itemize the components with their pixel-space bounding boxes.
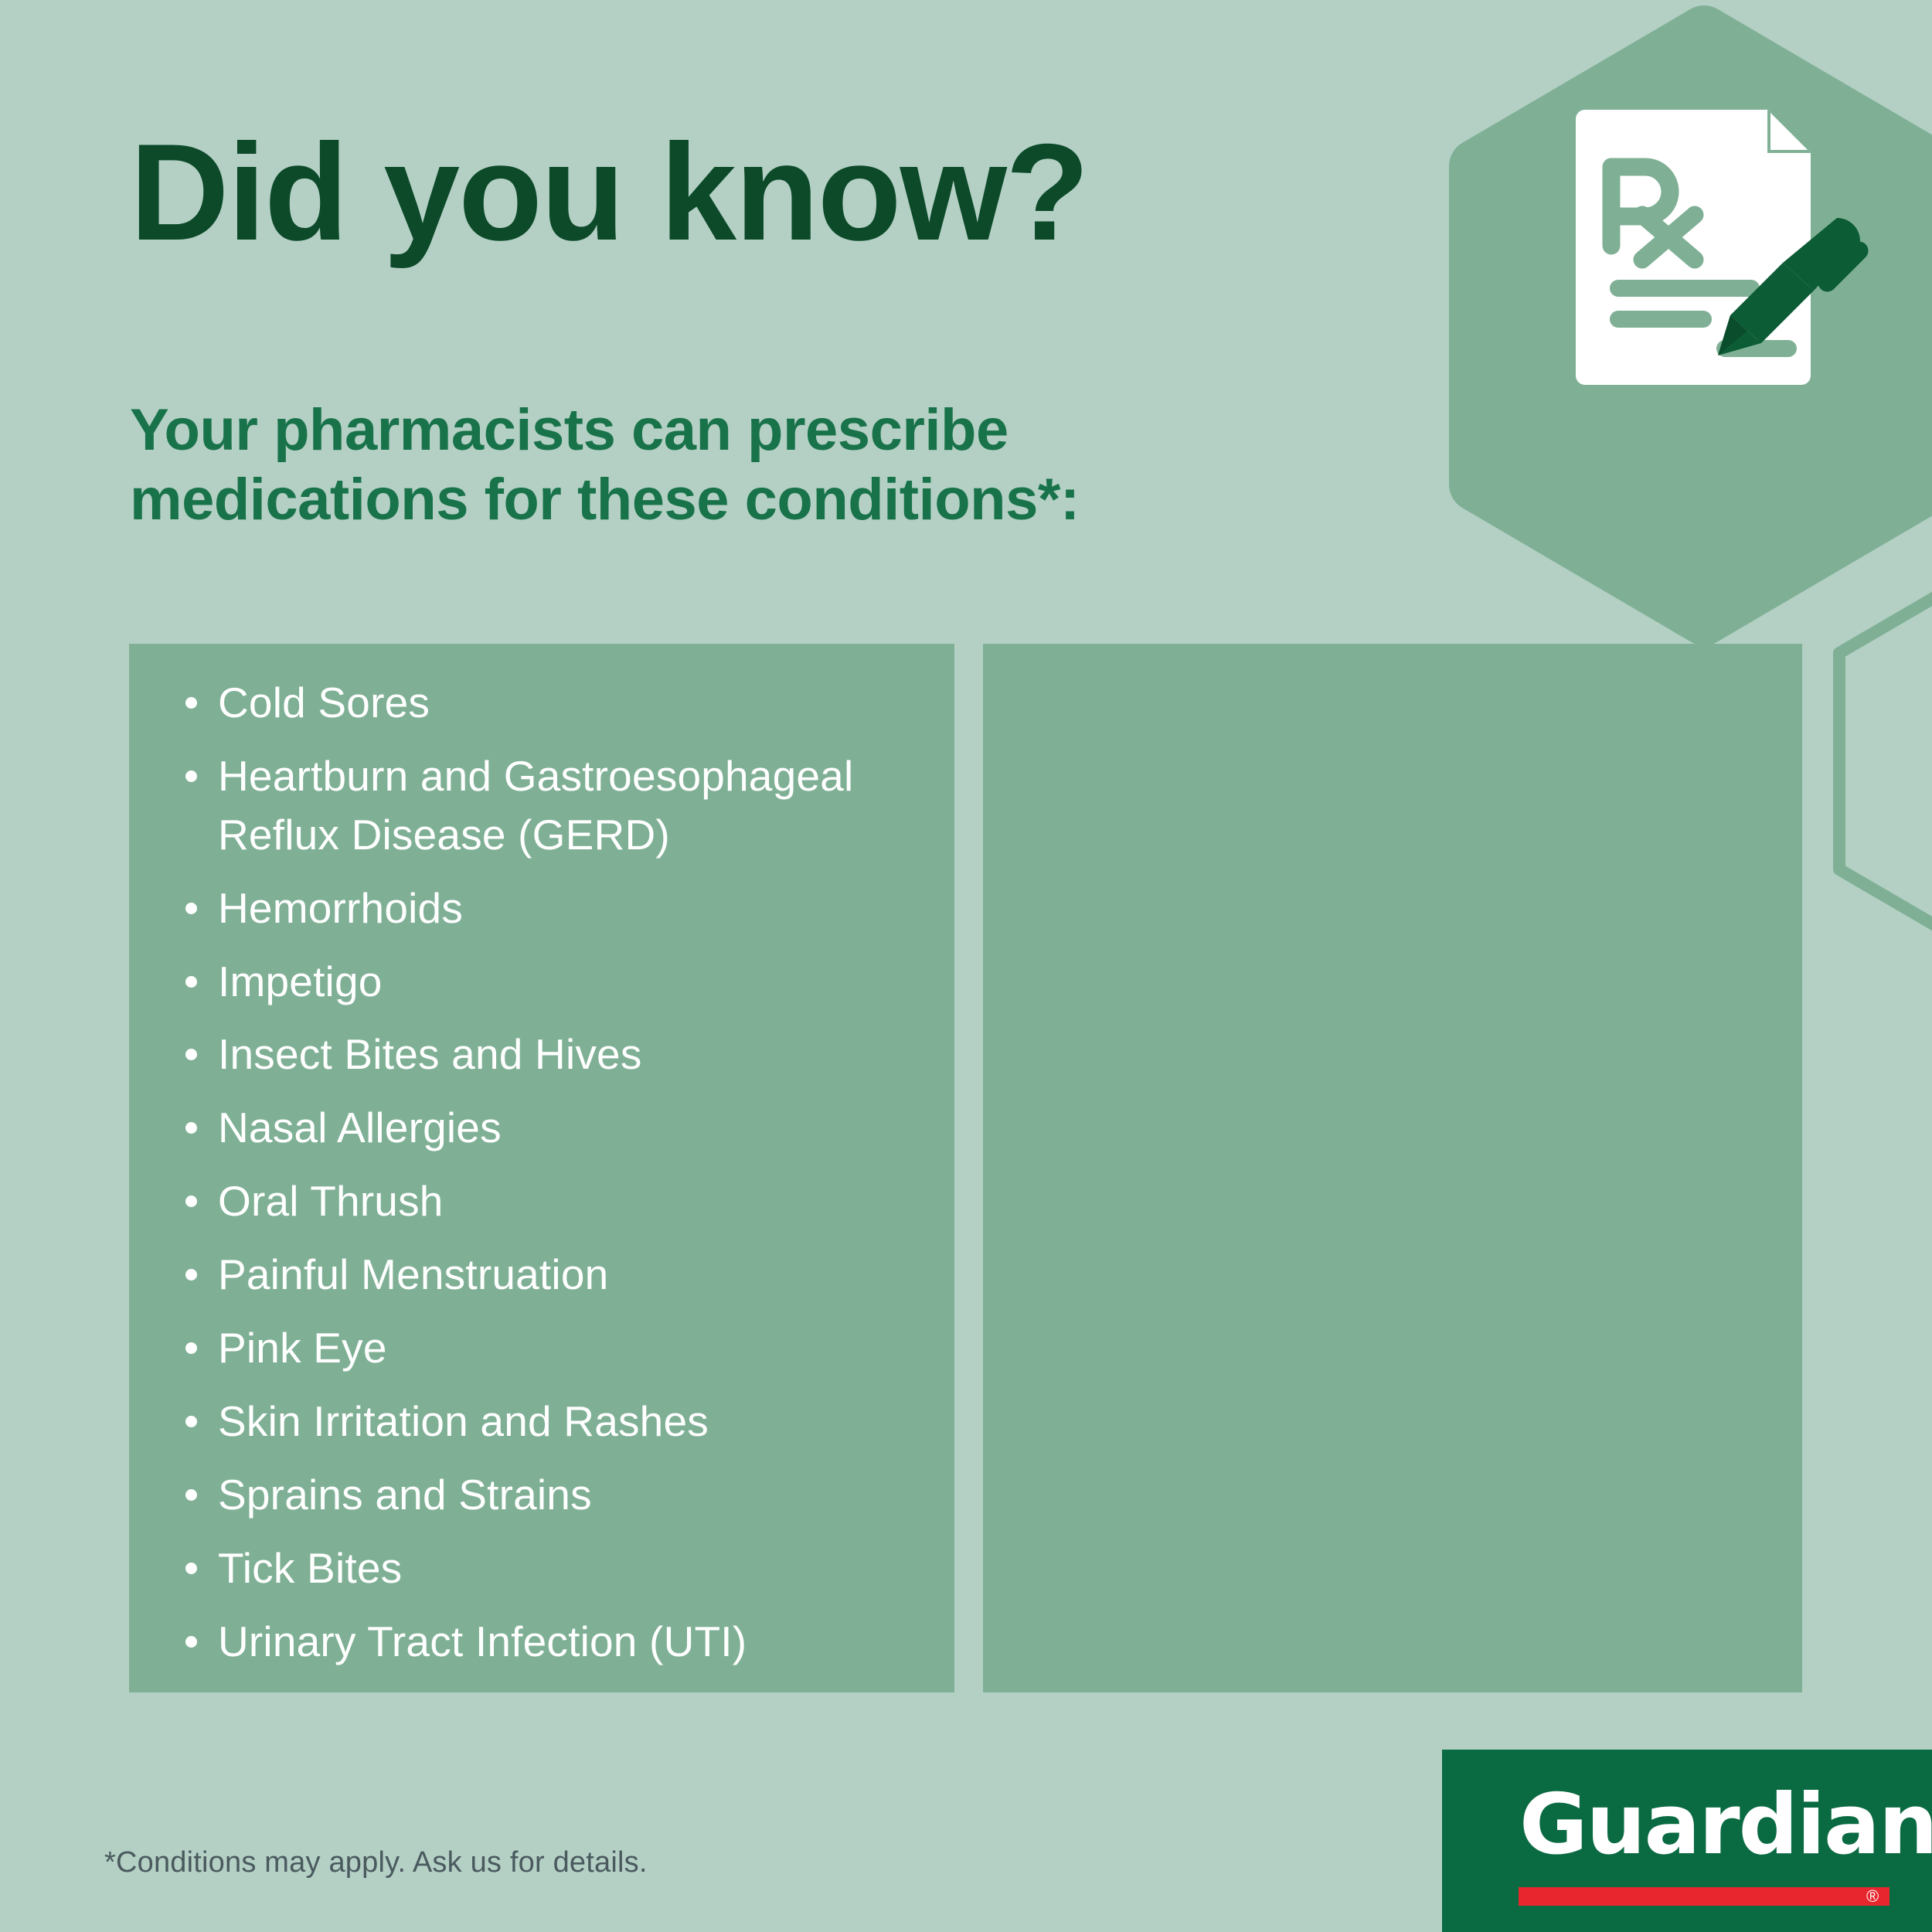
document-line-2 xyxy=(1610,311,1712,328)
bullet-icon xyxy=(185,1636,197,1648)
list-item-label: Tick Bites xyxy=(218,1544,402,1592)
list-item: Impetigo xyxy=(179,953,944,1012)
bullet-icon xyxy=(185,976,197,988)
bullet-icon xyxy=(185,1196,197,1207)
list-item: Hemorrhoids xyxy=(179,879,944,938)
list-item-label: Urinary Tract Infection (UTI) xyxy=(218,1617,747,1665)
list-item: Pink Eye xyxy=(179,1319,944,1378)
document-fold-white xyxy=(1770,113,1808,150)
list-item-label: Insect Bites and Hives xyxy=(218,1030,642,1078)
bullet-icon xyxy=(185,1342,197,1354)
bullet-icon xyxy=(185,1416,197,1427)
page-subtitle: Your pharmacists can prescribe medicatio… xyxy=(130,396,1289,534)
list-item: Insect Bites and Hives xyxy=(179,1026,944,1084)
hexagon-outline-shape xyxy=(1839,545,1932,978)
list-item-label: Oral Thrush xyxy=(218,1177,444,1225)
list-item-label: Skin Irritation and Rashes xyxy=(218,1397,709,1445)
registered-trademark-icon: ® xyxy=(1866,1889,1879,1904)
list-item: Heartburn and Gastroesophageal Reflux Di… xyxy=(179,747,944,865)
prescription-rx-icon xyxy=(1565,108,1874,417)
list-item-label: Pink Eye xyxy=(218,1324,387,1372)
list-item: Oral Thrush xyxy=(179,1172,944,1231)
bullet-icon xyxy=(185,1269,197,1281)
conditions-panel-right xyxy=(983,644,1802,1692)
list-item: Sprains and Strains xyxy=(179,1466,944,1525)
guardian-wordmark: Guardian xyxy=(1519,1784,1932,1867)
list-item: Cold Sores xyxy=(179,674,944,733)
list-item-label: Nasal Allergies xyxy=(218,1104,502,1151)
list-item-label: Heartburn and Gastroesophageal Reflux Di… xyxy=(218,752,853,859)
conditions-list: Cold Sores Heartburn and Gastroesophagea… xyxy=(179,674,944,1685)
bullet-icon xyxy=(185,1049,197,1060)
list-item: Skin Irritation and Rashes xyxy=(179,1393,944,1451)
list-item-label: Sprains and Strains xyxy=(218,1471,592,1519)
guardian-red-rule xyxy=(1519,1887,1889,1906)
list-item: Painful Menstruation xyxy=(179,1246,944,1304)
list-item-label: Impetigo xyxy=(218,957,383,1005)
bullet-icon xyxy=(185,903,197,914)
bullet-icon xyxy=(185,697,197,709)
guardian-logo: Guardian ® xyxy=(1442,1750,1932,1932)
bullet-icon xyxy=(185,1563,197,1574)
bullet-icon xyxy=(185,1122,197,1134)
footnote-disclaimer: *Conditions may apply. Ask us for detail… xyxy=(104,1845,648,1881)
poster-canvas: Did you know? Your pharmacists can presc… xyxy=(0,0,1932,1932)
list-item: Tick Bites xyxy=(179,1539,944,1598)
document-line-1 xyxy=(1610,280,1760,297)
list-item-label: Cold Sores xyxy=(218,679,430,726)
list-item-label: Hemorrhoids xyxy=(218,884,463,932)
bullet-icon xyxy=(185,1489,197,1501)
bullet-icon xyxy=(185,770,197,782)
page-title: Did you know? xyxy=(130,124,1088,261)
list-item: Nasal Allergies xyxy=(179,1099,944,1158)
list-item-label: Painful Menstruation xyxy=(218,1250,608,1298)
list-item: Urinary Tract Infection (UTI) xyxy=(179,1613,944,1672)
